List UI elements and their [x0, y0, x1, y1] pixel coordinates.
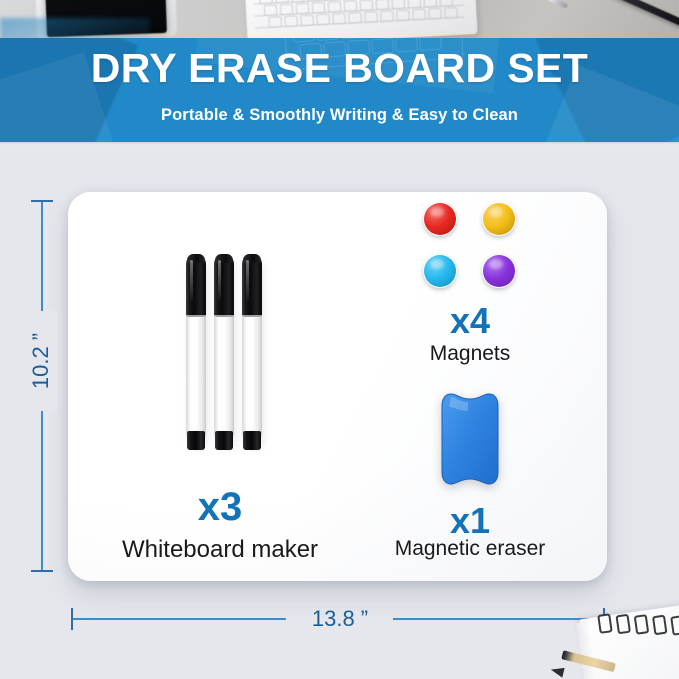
marker-seam: [242, 315, 262, 317]
notebook-coil: [670, 615, 679, 636]
marker-cap-top: [243, 254, 261, 263]
header-banner: DRY ERASE BOARD SET Portable & Smoothly …: [0, 38, 679, 142]
notebook-coil: [634, 614, 650, 635]
eraser-label: Magnetic eraser: [370, 538, 570, 559]
eraser-count: x1: [400, 503, 540, 539]
marker-end-cap: [187, 431, 205, 450]
marker-3: [242, 255, 262, 450]
pencil-tip: [550, 665, 565, 678]
red-magnet: [424, 203, 456, 235]
notebook-coil: [652, 615, 668, 636]
marker-barrel: [186, 315, 206, 435]
marker-1: [186, 255, 206, 450]
notebook-coil: [615, 614, 631, 635]
height-dimension-label: 10.2 ”: [25, 311, 57, 411]
height-dimension-tick-top: [31, 200, 53, 202]
purple-magnet: [483, 255, 515, 287]
magnetic-eraser: [441, 393, 499, 485]
marker-seam: [214, 315, 234, 317]
notebook-photo: [567, 588, 679, 679]
magnet-count: x4: [400, 303, 540, 339]
marker-cap: [186, 255, 206, 317]
marker-cap: [242, 255, 262, 317]
marker-group: [186, 255, 266, 450]
magnet-group: [424, 203, 518, 291]
keyboard-photo: [244, 0, 477, 42]
magnet-label: Magnets: [390, 343, 550, 364]
banner-underline: [0, 142, 679, 145]
height-dimension-tick-bottom: [31, 570, 53, 572]
page-title: DRY ERASE BOARD SET: [0, 48, 679, 89]
marker-seam: [186, 315, 206, 317]
notebook-coil: [597, 613, 613, 634]
marker-2: [214, 255, 234, 450]
marker-end-cap: [243, 431, 261, 450]
marker-cap: [214, 255, 234, 317]
cyan-magnet: [424, 255, 456, 287]
marker-barrel: [214, 315, 234, 435]
top-photo-strip: [0, 0, 679, 42]
marker-cap-top: [187, 254, 205, 263]
marker-cap-top: [215, 254, 233, 263]
product-infographic: DRY ERASE BOARD SET Portable & Smoothly …: [0, 0, 679, 679]
marker-barrel: [242, 315, 262, 435]
marker-count: x3: [120, 487, 320, 527]
width-dimension-label: 13.8 ”: [290, 606, 390, 632]
marker-end-cap: [215, 431, 233, 450]
width-dimension-tick-left: [71, 608, 73, 630]
marker-label: Whiteboard maker: [80, 538, 360, 562]
yellow-magnet: [483, 203, 515, 235]
page-subtitle: Portable & Smoothly Writing & Easy to Cl…: [0, 106, 679, 125]
width-dimension-line-left: [71, 618, 286, 620]
